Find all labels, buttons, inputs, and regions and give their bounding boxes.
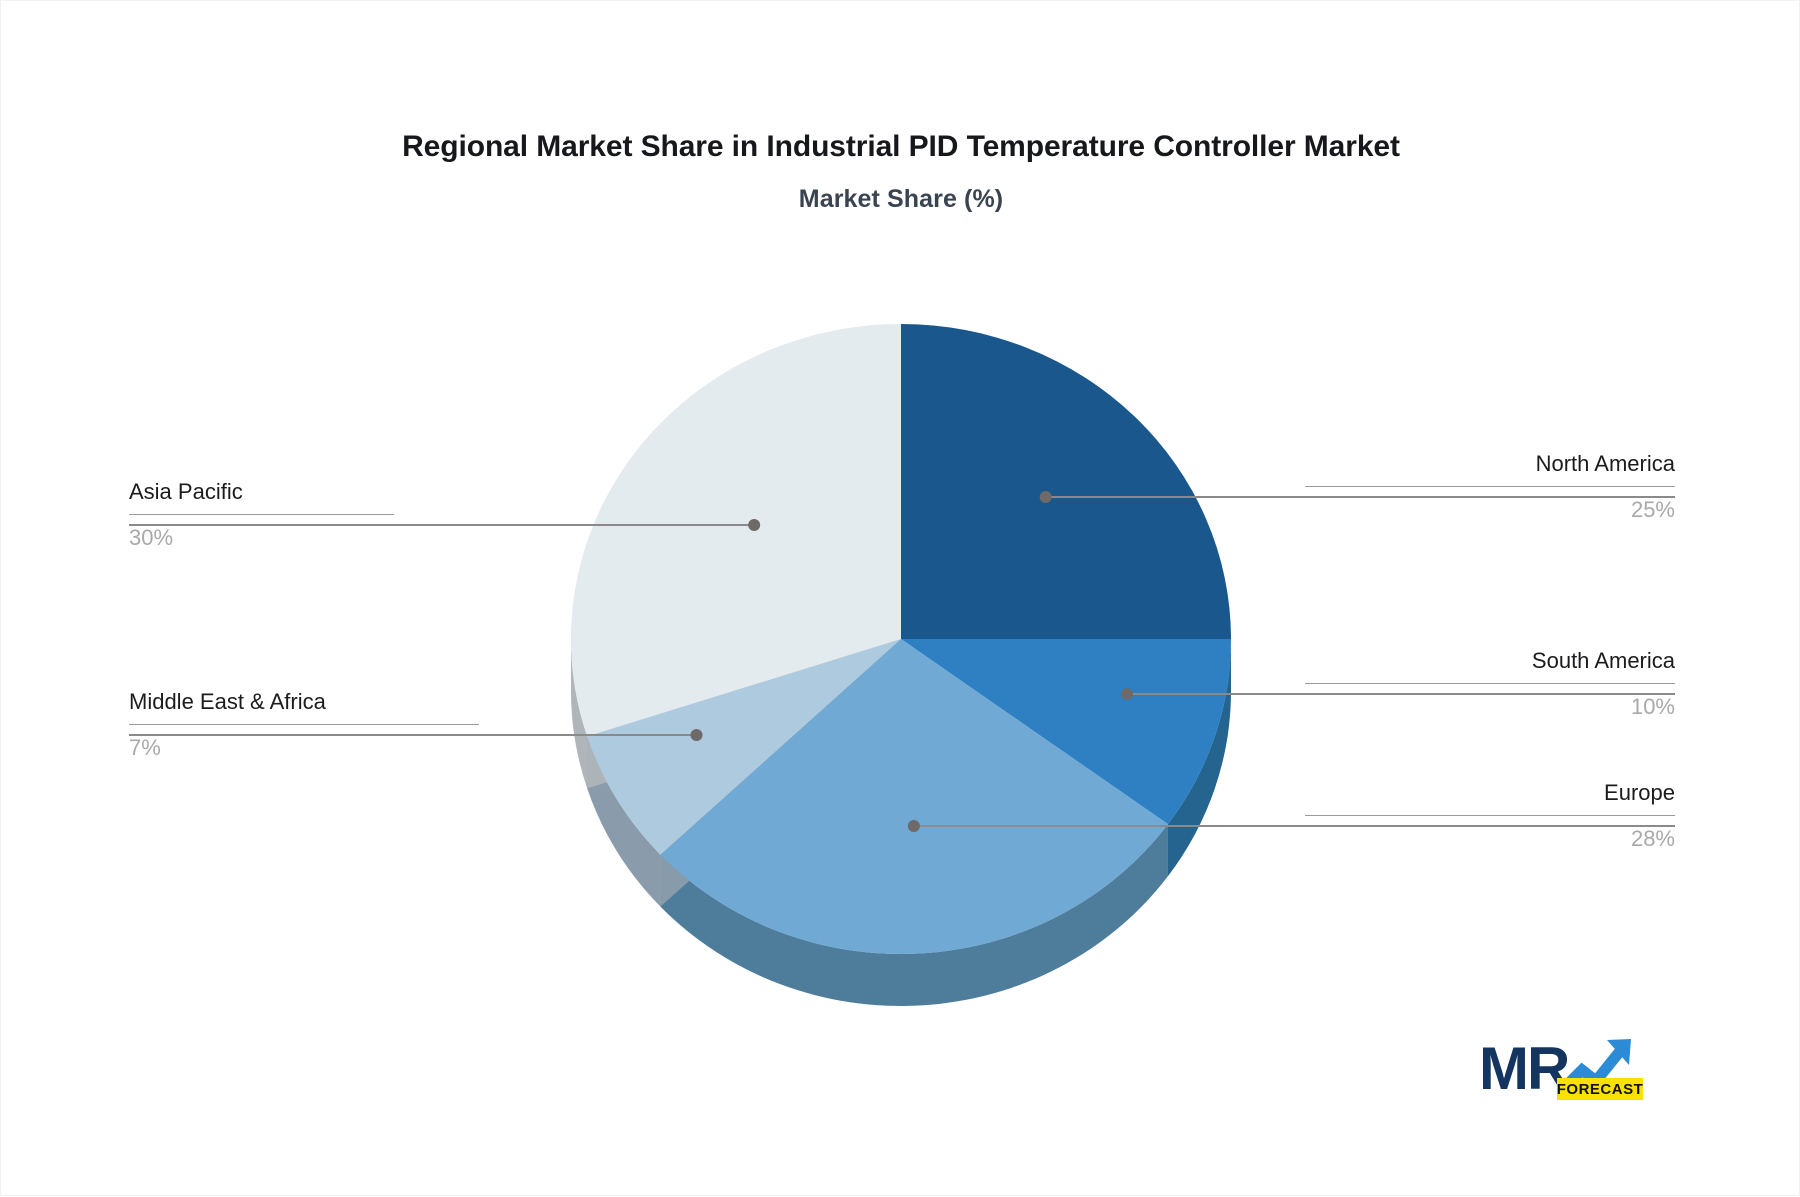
mr-forecast-logo: MR FORECAST: [1479, 1034, 1647, 1106]
pie-chart: [1, 1, 1800, 1197]
callout-rule: [129, 724, 479, 725]
callout-rule: [129, 514, 394, 515]
callout-asia-pacific: Asia Pacific 30%: [129, 481, 394, 549]
leader-dot: [748, 519, 760, 531]
callout-label: North America: [1305, 453, 1675, 475]
callout-europe: Europe 28%: [1305, 782, 1675, 850]
callout-label: Europe: [1305, 782, 1675, 804]
logo-tagline-text: FORECAST: [1557, 1081, 1644, 1098]
callout-value: 10%: [1305, 696, 1675, 718]
callout-label: Middle East & Africa: [129, 691, 479, 713]
callout-rule: [1305, 815, 1675, 816]
callout-value: 25%: [1305, 499, 1675, 521]
leader-dot: [690, 729, 702, 741]
pie-slices: [571, 324, 1231, 954]
callout-value: 28%: [1305, 828, 1675, 850]
callout-label: Asia Pacific: [129, 481, 394, 503]
leader-dot: [1040, 491, 1052, 503]
chart-canvas: Regional Market Share in Industrial PID …: [0, 0, 1800, 1196]
callout-north-america: North America 25%: [1305, 453, 1675, 521]
callout-label: South America: [1305, 650, 1675, 672]
callout-south-america: South America 10%: [1305, 650, 1675, 718]
logo-svg: MR FORECAST: [1479, 1034, 1647, 1106]
callout-value: 30%: [129, 527, 394, 549]
leader-dot: [908, 820, 920, 832]
leader-dot: [1121, 688, 1133, 700]
callout-rule: [1305, 683, 1675, 684]
pie-chart-svg: [1, 1, 1800, 1197]
pie-slice-north-america[interactable]: [901, 324, 1231, 639]
callout-rule: [1305, 486, 1675, 487]
callout-value: 7%: [129, 737, 479, 759]
callout-middle-east-africa: Middle East & Africa 7%: [129, 691, 479, 759]
